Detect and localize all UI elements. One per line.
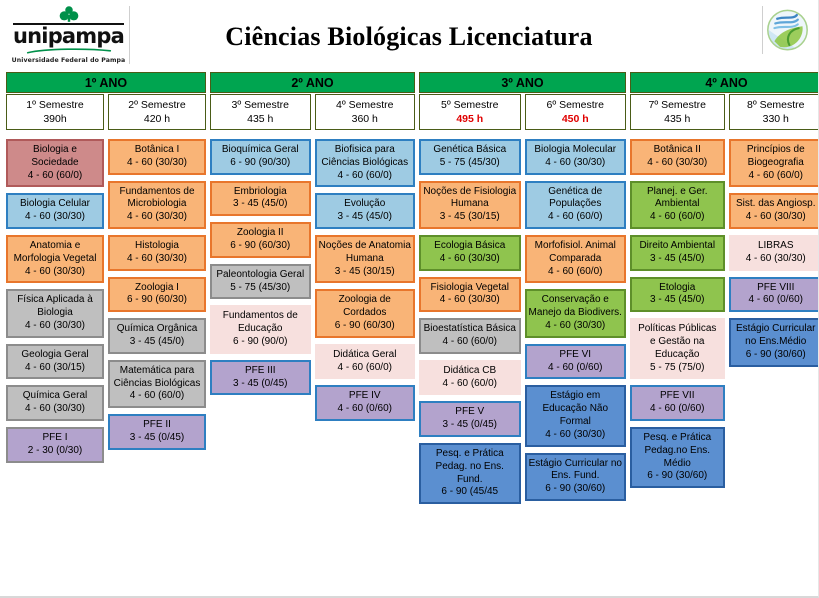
- course-box[interactable]: Embriologia3 - 45 (45/0): [210, 181, 311, 217]
- course-hours: 4 - 60 (0/60): [529, 362, 623, 375]
- course-box[interactable]: PFE V3 - 45 (0/45): [419, 401, 521, 437]
- course-name: Biologia Molecular: [529, 144, 623, 157]
- course-name: PFE I: [10, 432, 100, 445]
- course-name: PFE VIII: [733, 282, 819, 295]
- course-name: Biofisica para Ciências Biológicas: [319, 144, 412, 170]
- course-name: Evolução: [319, 198, 412, 211]
- semester-header: 8º Semestre330 h: [729, 94, 819, 130]
- course-box[interactable]: Química Geral4 - 60 (30/30): [6, 385, 104, 421]
- course-name: PFE IV: [319, 390, 412, 403]
- course-name: Direito Ambiental: [634, 240, 721, 253]
- course-box[interactable]: Geologia Geral4 - 60 (30/15): [6, 344, 104, 380]
- course-hours: 3 - 45 (0/45): [214, 378, 307, 391]
- course-name: Pesq. e Prática Pedag. no Ens. Fund.: [423, 448, 517, 486]
- course-box[interactable]: Botânica I4 - 60 (30/30): [108, 139, 206, 175]
- semester-course-list: Biologia e Sociedade4 - 60 (60/0)Biologi…: [6, 139, 104, 469]
- semester-hours: 390h: [43, 112, 66, 126]
- course-box[interactable]: Direito Ambiental3 - 45 (45/0): [630, 235, 725, 271]
- course-name: Genética Básica: [423, 144, 517, 157]
- course-box[interactable]: PFE I2 - 30 (0/30): [6, 427, 104, 463]
- course-name: Estágio Curricular no Ens. Fund.: [529, 458, 623, 484]
- course-hours: 4 - 60 (30/30): [529, 157, 623, 170]
- course-hours: 4 - 60 (60/0): [423, 336, 517, 349]
- course-box[interactable]: PFE VIII4 - 60 (0/60): [729, 277, 819, 313]
- course-hours: 4 - 60 (30/30): [733, 211, 819, 224]
- course-box[interactable]: Biologia Celular4 - 60 (30/30): [6, 193, 104, 229]
- semester-hours: 435 h: [664, 112, 690, 126]
- course-box[interactable]: Noções de Fisiologia Humana3 - 45 (30/15…: [419, 181, 521, 229]
- course-name: Geologia Geral: [10, 349, 100, 362]
- course-hours: 4 - 60 (30/30): [423, 294, 517, 307]
- course-hours: 4 - 60 (30/30): [112, 253, 202, 266]
- course-box[interactable]: Botânica II4 - 60 (30/30): [630, 139, 725, 175]
- poster-header: unipampa Universidade Federal do Pampa C…: [0, 0, 818, 72]
- semester-course-list: Botânica II4 - 60 (30/30)Planej. e Ger. …: [630, 139, 725, 494]
- semester-hours: 435 h: [247, 112, 273, 126]
- course-name: Fisiologia Vegetal: [423, 282, 517, 295]
- course-box[interactable]: Etologia3 - 45 (45/0): [630, 277, 725, 313]
- course-hours: 3 - 45 (0/45): [112, 432, 202, 445]
- course-box[interactable]: Conservação e Manejo da Biodivers.4 - 60…: [525, 289, 627, 337]
- course-hours: 4 - 60 (30/30): [10, 211, 100, 224]
- course-box[interactable]: Estágio Curricular no Ens. Fund.6 - 90 (…: [525, 453, 627, 501]
- page-title: Ciências Biológicas Licenciatura: [0, 22, 818, 52]
- course-box[interactable]: Bioquímica Geral6 - 90 (90/30): [210, 139, 311, 175]
- course-hours: 4 - 60 (0/60): [733, 294, 819, 307]
- curriculum-poster: unipampa Universidade Federal do Pampa C…: [0, 0, 819, 598]
- course-box[interactable]: Estágio Curricular no Ens.Médio6 - 90 (3…: [729, 318, 819, 366]
- course-hours: 4 - 60 (30/30): [529, 429, 623, 442]
- course-hours: 3 - 45 (45/0): [319, 211, 412, 224]
- course-hours: 6 - 90 (30/60): [733, 349, 819, 362]
- course-name: PFE VI: [529, 349, 623, 362]
- semester-header: 3º Semestre435 h: [210, 94, 311, 130]
- year-column: 2º ANO3º Semestre435 h4º Semestre360 hBi…: [210, 72, 415, 510]
- course-hours: 3 - 45 (45/0): [112, 336, 202, 349]
- course-hours: 6 - 90 (60/30): [319, 320, 412, 333]
- course-box[interactable]: PFE VI4 - 60 (0/60): [525, 344, 627, 380]
- course-hours: 6 - 90 (45/45: [423, 486, 517, 499]
- course-name: Matemática para Ciências Biológicas: [112, 365, 202, 391]
- year-banner: 4º ANO: [630, 72, 819, 93]
- year-banner: 1º ANO: [6, 72, 206, 93]
- course-name: Princípios de Biogeografia: [733, 144, 819, 170]
- course-hours: 4 - 60 (60/0): [423, 378, 517, 391]
- course-name: Didática CB: [423, 365, 517, 378]
- course-hours: 6 - 90 (30/60): [529, 483, 623, 496]
- semester-header-row: 5º Semestre495 h6º Semestre450 h: [419, 94, 626, 130]
- course-hours: 4 - 60 (30/30): [112, 211, 202, 224]
- course-hours: 3 - 45 (45/0): [634, 253, 721, 266]
- semester-course-list: Princípios de Biogeografia4 - 60 (60/0)S…: [729, 139, 819, 373]
- unipampa-subtitle: Universidade Federal do Pampa: [12, 57, 126, 64]
- course-box[interactable]: Paleontologia Geral5 - 75 (45/30): [210, 264, 311, 300]
- course-name: PFE II: [112, 419, 202, 432]
- course-box[interactable]: Pesq. e Prática Pedag. no Ens. Fund.6 - …: [419, 443, 521, 504]
- course-name: Noções de Anatomia Humana: [319, 240, 412, 266]
- year-column: 1º ANO1º Semestre390h2º Semestre420 hBio…: [6, 72, 206, 510]
- course-box[interactable]: Fisiologia Vegetal4 - 60 (30/30): [419, 277, 521, 313]
- course-box[interactable]: Sist. das Angiosp.4 - 60 (30/30): [729, 193, 819, 229]
- course-box[interactable]: Anatomia e Morfologia Vegetal4 - 60 (30/…: [6, 235, 104, 283]
- semester-course-columns: Biologia e Sociedade4 - 60 (60/0)Biologi…: [6, 139, 206, 469]
- semester-label: 8º Semestre: [747, 98, 805, 112]
- course-box[interactable]: PFE III3 - 45 (0/45): [210, 360, 311, 396]
- semester-header-row: 7º Semestre435 h8º Semestre330 h: [630, 94, 819, 130]
- course-name: Fundamentos de Microbiologia: [112, 186, 202, 212]
- course-box[interactable]: Biologia e Sociedade4 - 60 (60/0): [6, 139, 104, 187]
- course-hours: 5 - 75 (45/30): [214, 282, 307, 295]
- course-box[interactable]: Matemática para Ciências Biológicas4 - 6…: [108, 360, 206, 408]
- course-hours: 4 - 60 (30/30): [634, 157, 721, 170]
- course-name: Anatomia e Morfologia Vegetal: [10, 240, 100, 266]
- course-name: Ecologia Básica: [423, 240, 517, 253]
- course-box[interactable]: Física Aplicada à Biologia4 - 60 (30/30): [6, 289, 104, 337]
- semester-course-columns: Bioquímica Geral6 - 90 (90/30)Embriologi…: [210, 139, 415, 427]
- semester-course-list: Bioquímica Geral6 - 90 (90/30)Embriologi…: [210, 139, 311, 401]
- year-banner: 2º ANO: [210, 72, 415, 93]
- course-hours: 3 - 45 (30/15): [319, 266, 412, 279]
- course-name: Zoologia I: [112, 282, 202, 295]
- course-box[interactable]: Noções de Anatomia Humana3 - 45 (30/15): [315, 235, 416, 283]
- course-box[interactable]: Planej. e Ger. Ambiental4 - 60 (60/0): [630, 181, 725, 229]
- course-name: Bioquímica Geral: [214, 144, 307, 157]
- course-box[interactable]: Didática CB4 - 60 (60/0): [419, 360, 521, 396]
- semester-course-list: Genética Básica5 - 75 (45/30)Noções de F…: [419, 139, 521, 510]
- course-box[interactable]: LIBRAS4 - 60 (30/30): [729, 235, 819, 271]
- semester-hours: 360 h: [352, 112, 378, 126]
- course-box[interactable]: Biofisica para Ciências Biológicas4 - 60…: [315, 139, 416, 187]
- course-name: Botânica II: [634, 144, 721, 157]
- course-name: PFE III: [214, 365, 307, 378]
- course-hours: 3 - 45 (30/15): [423, 211, 517, 224]
- year-column: 3º ANO5º Semestre495 h6º Semestre450 hGe…: [419, 72, 626, 510]
- course-name: LIBRAS: [733, 240, 819, 253]
- years-grid: 1º ANO1º Semestre390h2º Semestre420 hBio…: [0, 72, 819, 510]
- semester-label: 4º Semestre: [336, 98, 394, 112]
- course-hours: 6 - 90 (30/60): [634, 470, 721, 483]
- course-name: Etologia: [634, 282, 721, 295]
- course-box[interactable]: Didática Geral4 - 60 (60/0): [315, 344, 416, 380]
- semester-label: 6º Semestre: [546, 98, 604, 112]
- course-box[interactable]: Fundamentos de Educação6 - 90 (90/0): [210, 305, 311, 353]
- semester-hours: 420 h: [144, 112, 170, 126]
- course-name: Conservação e Manejo da Biodivers.: [529, 294, 623, 320]
- course-name: Biologia Celular: [10, 198, 100, 211]
- course-hours: 6 - 90 (60/30): [112, 294, 202, 307]
- course-box[interactable]: Morfofisiol. Animal Comparada4 - 60 (60/…: [525, 235, 627, 283]
- course-box[interactable]: Biologia Molecular4 - 60 (30/30): [525, 139, 627, 175]
- tree-icon: [56, 6, 82, 22]
- course-hours: 3 - 45 (45/0): [214, 198, 307, 211]
- course-hours: 6 - 90 (90/0): [214, 336, 307, 349]
- course-hours: 4 - 60 (30/30): [112, 157, 202, 170]
- semester-header-row: 3º Semestre435 h4º Semestre360 h: [210, 94, 415, 130]
- course-hours: 2 - 30 (0/30): [10, 445, 100, 458]
- semester-course-list: Biologia Molecular4 - 60 (30/30)Genética…: [525, 139, 627, 507]
- course-name: Fundamentos de Educação: [214, 310, 307, 336]
- semester-label: 7º Semestre: [648, 98, 706, 112]
- course-hours: 4 - 60 (0/60): [319, 403, 412, 416]
- course-hours: 6 - 90 (90/30): [214, 157, 307, 170]
- year-banner: 3º ANO: [419, 72, 626, 93]
- course-box[interactable]: Fundamentos de Microbiologia4 - 60 (30/3…: [108, 181, 206, 229]
- semester-label: 2º Semestre: [128, 98, 186, 112]
- year-column: 4º ANO7º Semestre435 h8º Semestre330 hBo…: [630, 72, 819, 510]
- course-box[interactable]: PFE VII4 - 60 (0/60): [630, 385, 725, 421]
- course-box[interactable]: PFE IV4 - 60 (0/60): [315, 385, 416, 421]
- course-box[interactable]: Zoologia de Cordados6 - 90 (60/30): [315, 289, 416, 337]
- course-hours: 4 - 60 (60/0): [319, 170, 412, 183]
- course-hours: 4 - 60 (30/30): [733, 253, 819, 266]
- semester-header: 1º Semestre390h: [6, 94, 104, 130]
- course-name: Pesq. e Prática Pedag.no Ens. Médio: [634, 432, 721, 470]
- course-name: Políticas Públicas e Gestão na Educação: [634, 323, 721, 361]
- course-name: Química Geral: [10, 390, 100, 403]
- semester-hours: 330 h: [763, 112, 789, 126]
- course-box[interactable]: Genética de Populações4 - 60 (60/0): [525, 181, 627, 229]
- semester-header: 7º Semestre435 h: [630, 94, 725, 130]
- course-name: Estágio em Educação Não Formal: [529, 390, 623, 428]
- course-hours: 4 - 60 (60/0): [529, 211, 623, 224]
- course-box[interactable]: Zoologia II6 - 90 (60/30): [210, 222, 311, 258]
- course-hours: 4 - 60 (60/0): [319, 362, 412, 375]
- semester-label: 3º Semestre: [231, 98, 289, 112]
- course-box[interactable]: Química Orgânica3 - 45 (45/0): [108, 318, 206, 354]
- course-box[interactable]: Estágio em Educação Não Formal4 - 60 (30…: [525, 385, 627, 446]
- semester-course-list: Botânica I4 - 60 (30/30)Fundamentos de M…: [108, 139, 206, 456]
- course-name: Sist. das Angiosp.: [733, 198, 819, 211]
- semester-header: 2º Semestre420 h: [108, 94, 206, 130]
- semester-hours: 450 h: [562, 112, 589, 126]
- course-hours: 4 - 60 (60/0): [10, 170, 100, 183]
- course-hours: 3 - 45 (0/45): [423, 419, 517, 432]
- course-name: Biologia e Sociedade: [10, 144, 100, 170]
- course-name: PFE V: [423, 406, 517, 419]
- course-name: Química Orgânica: [112, 323, 202, 336]
- course-box[interactable]: Políticas Públicas e Gestão na Educação5…: [630, 318, 725, 379]
- course-hours: 5 - 75 (75/0): [634, 362, 721, 375]
- course-hours: 4 - 60 (0/60): [634, 403, 721, 416]
- course-box[interactable]: Bioestatística Básica4 - 60 (60/0): [419, 318, 521, 354]
- course-box[interactable]: Princípios de Biogeografia4 - 60 (60/0): [729, 139, 819, 187]
- course-name: Física Aplicada à Biologia: [10, 294, 100, 320]
- semester-label: 1º Semestre: [26, 98, 84, 112]
- course-name: Planej. e Ger. Ambiental: [634, 186, 721, 212]
- semester-course-list: Biofisica para Ciências Biológicas4 - 60…: [315, 139, 416, 427]
- course-name: Bioestatística Básica: [423, 323, 517, 336]
- course-hours: 4 - 60 (30/30): [529, 320, 623, 333]
- course-name: Estágio Curricular no Ens.Médio: [733, 323, 819, 349]
- course-hours: 4 - 60 (60/0): [529, 266, 623, 279]
- course-name: Paleontologia Geral: [214, 269, 307, 282]
- course-name: Botânica I: [112, 144, 202, 157]
- semester-course-columns: Genética Básica5 - 75 (45/30)Noções de F…: [419, 139, 626, 510]
- semester-label: 5º Semestre: [441, 98, 499, 112]
- course-name: Embriologia: [214, 186, 307, 199]
- course-box[interactable]: Zoologia I6 - 90 (60/30): [108, 277, 206, 313]
- course-box[interactable]: Histologia4 - 60 (30/30): [108, 235, 206, 271]
- course-name: Didática Geral: [319, 349, 412, 362]
- course-emblem-icon: [762, 6, 810, 54]
- course-name: Morfofisiol. Animal Comparada: [529, 240, 623, 266]
- course-hours: 6 - 90 (60/30): [214, 240, 307, 253]
- course-hours: 4 - 60 (60/0): [634, 211, 721, 224]
- semester-header-row: 1º Semestre390h2º Semestre420 h: [6, 94, 206, 130]
- semester-header: 4º Semestre360 h: [315, 94, 416, 130]
- course-box[interactable]: Genética Básica5 - 75 (45/30): [419, 139, 521, 175]
- course-hours: 4 - 60 (30/15): [10, 362, 100, 375]
- course-hours: 4 - 60 (60/0): [733, 170, 819, 183]
- course-hours: 4 - 60 (30/30): [10, 320, 100, 333]
- semester-header: 6º Semestre450 h: [525, 94, 627, 130]
- course-name: Zoologia II: [214, 227, 307, 240]
- course-box[interactable]: Evolução3 - 45 (45/0): [315, 193, 416, 229]
- course-hours: 4 - 60 (30/30): [10, 266, 100, 279]
- course-hours: 4 - 60 (60/0): [112, 390, 202, 403]
- course-name: Histologia: [112, 240, 202, 253]
- course-hours: 4 - 60 (30/30): [10, 403, 100, 416]
- course-box[interactable]: Ecologia Básica4 - 60 (30/30): [419, 235, 521, 271]
- course-name: Noções de Fisiologia Humana: [423, 186, 517, 212]
- course-name: PFE VII: [634, 390, 721, 403]
- course-name: Genética de Populações: [529, 186, 623, 212]
- course-name: Zoologia de Cordados: [319, 294, 412, 320]
- course-box[interactable]: PFE II3 - 45 (0/45): [108, 414, 206, 450]
- course-hours: 3 - 45 (45/0): [634, 294, 721, 307]
- semester-header: 5º Semestre495 h: [419, 94, 521, 130]
- course-box[interactable]: Pesq. e Prática Pedag.no Ens. Médio6 - 9…: [630, 427, 725, 488]
- course-hours: 5 - 75 (45/30): [423, 157, 517, 170]
- course-hours: 4 - 60 (30/30): [423, 253, 517, 266]
- semester-hours: 495 h: [456, 112, 483, 126]
- semester-course-columns: Botânica II4 - 60 (30/30)Planej. e Ger. …: [630, 139, 819, 494]
